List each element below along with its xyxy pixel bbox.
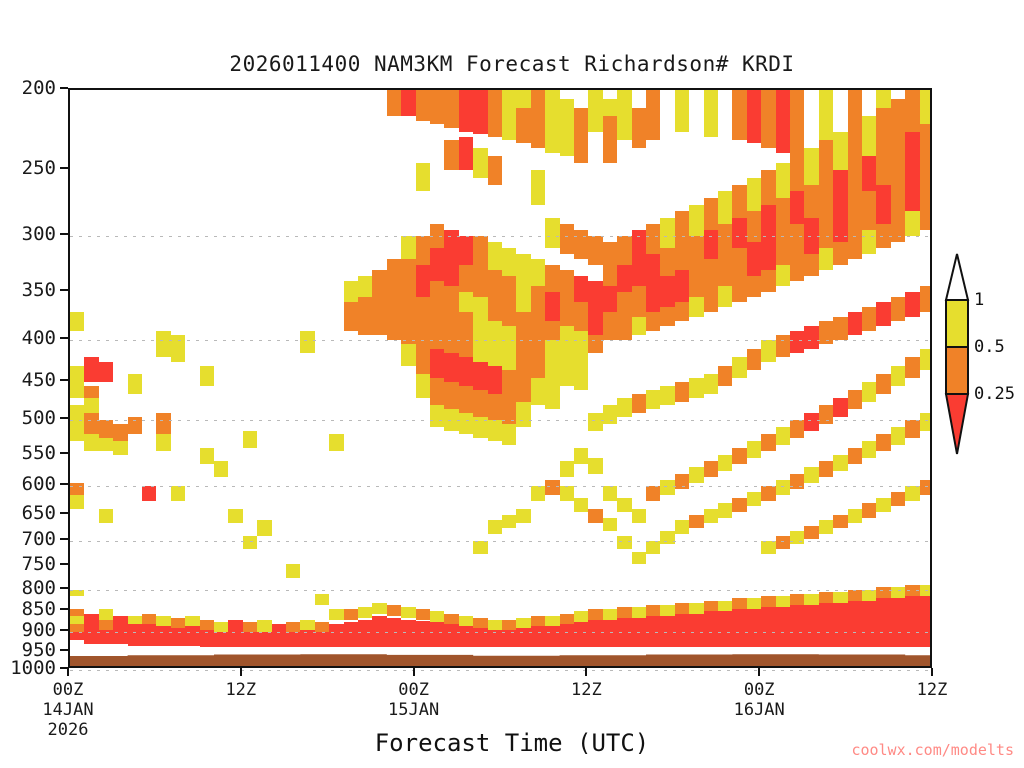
x-tick-label-line: 00Z: [0, 680, 138, 700]
colorbar-tick-label: 0.25: [974, 384, 1015, 404]
x-tick: [67, 668, 69, 676]
colorbar-graphic: [938, 252, 1024, 482]
x-tick-label: 12Z: [171, 680, 311, 700]
colorbar-cap-bottom: [946, 394, 968, 454]
x-tick-label-line: 16JAN: [689, 700, 829, 720]
x-tick-label-line: 14JAN: [0, 700, 138, 720]
x-tick: [758, 668, 760, 676]
colorbar-tick-label: 1: [974, 290, 984, 310]
x-tick: [240, 668, 242, 676]
x-tick-label-line: 15JAN: [344, 700, 484, 720]
x-tick-label: 12Z: [862, 680, 1002, 700]
x-tick-label-line: 00Z: [344, 680, 484, 700]
watermark: coolwx.com/modelts: [0, 741, 1014, 759]
x-tick-label: 00Z15JAN: [344, 680, 484, 720]
x-tick-label-line: 12Z: [171, 680, 311, 700]
colorbar-tick-label: 0.5: [974, 337, 1005, 357]
x-tick-label-line: 12Z: [862, 680, 1002, 700]
x-tick: [413, 668, 415, 676]
x-tick-label: 12Z: [516, 680, 656, 700]
x-tick-label-line: 00Z: [689, 680, 829, 700]
x-tick: [585, 668, 587, 676]
colorbar-band: [946, 347, 968, 394]
colorbar-band: [946, 300, 968, 347]
chart-page: 2026011400 NAM3KM Forecast Richardson# K…: [0, 0, 1024, 768]
x-tick-label-line: 12Z: [516, 680, 656, 700]
x-tick: [931, 668, 933, 676]
x-tick-label: 00Z16JAN: [689, 680, 829, 720]
x-axis: 00Z14JAN202612Z00Z15JAN12Z00Z16JAN12Z: [0, 0, 1024, 768]
colorbar-cap-top: [946, 254, 968, 300]
